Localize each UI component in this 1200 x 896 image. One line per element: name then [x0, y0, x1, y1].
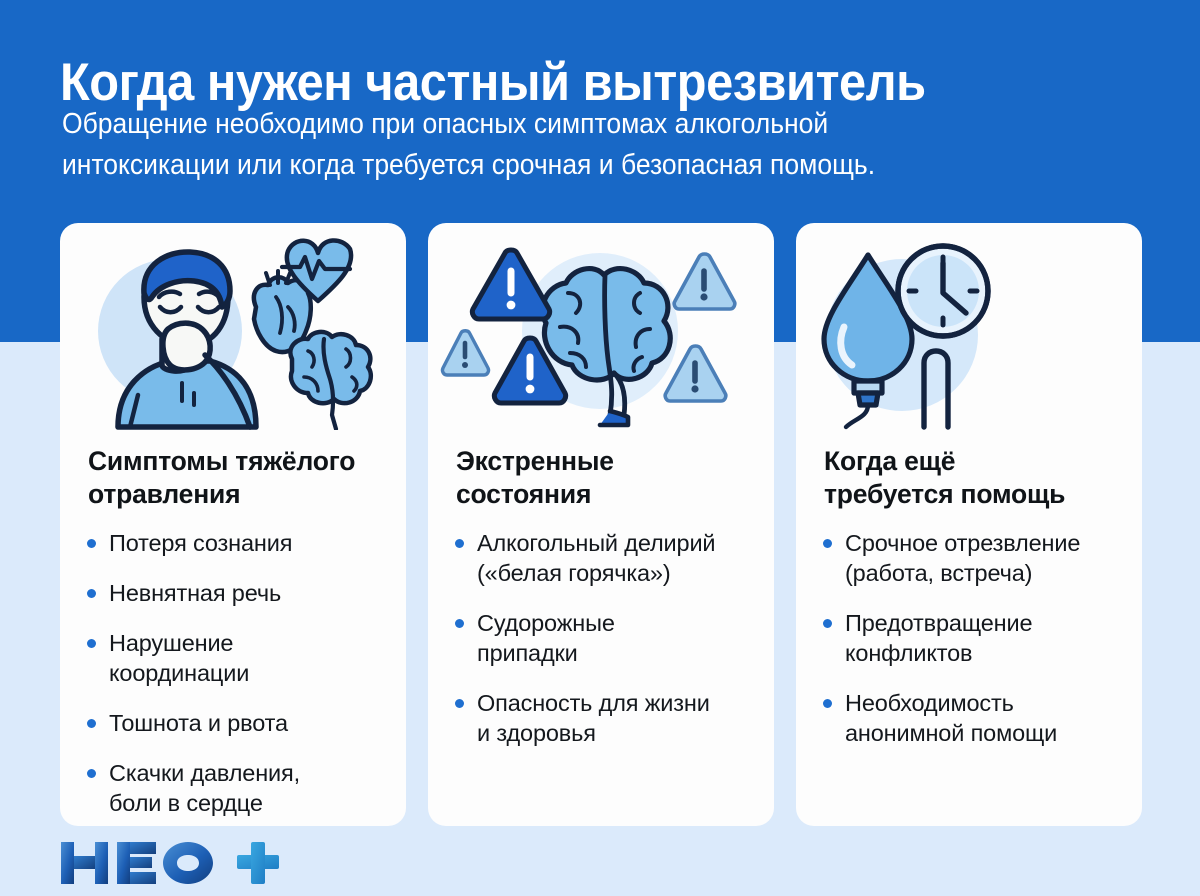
bullet-line: Невнятная речь — [109, 578, 402, 608]
logo-letter-e — [117, 842, 156, 884]
card-title-line-1: Когда ещё — [824, 445, 1124, 478]
bullet-line: Скачки давления, — [109, 758, 402, 788]
bullet-line: и здоровья — [477, 718, 770, 748]
list-item: Опасность для жизни и здоровья — [450, 688, 770, 748]
list-item: Алкогольный делирий («белая горячка») — [450, 528, 770, 588]
sick-man-heart-brain-illustration — [60, 235, 406, 430]
bullet-line: Алкогольный делирий — [477, 528, 770, 558]
page-subtitle: Обращение необходимо при опасных симптом… — [62, 104, 1113, 186]
card-title: Экстренные состояния — [456, 445, 756, 511]
card-title: Когда ещё требуется помощь — [824, 445, 1124, 511]
infographic-page: Когда нужен частный вытрезвитель Обращен… — [0, 0, 1200, 896]
card-bullet-list: Срочное отрезвление (работа, встреча) Пр… — [818, 528, 1138, 768]
bullet-line: координации — [109, 658, 402, 688]
list-item: Необходимость анонимной помощи — [818, 688, 1138, 748]
warning-triangle-icon — [442, 331, 488, 375]
bullet-line: (работа, встреча) — [845, 558, 1138, 588]
bullet-line: Судорожные — [477, 608, 770, 638]
list-item: Срочное отрезвление (работа, встреча) — [818, 528, 1138, 588]
bullet-line: боли в сердце — [109, 788, 402, 818]
subtitle-line-2: интоксикации или когда требуется срочная… — [62, 145, 1113, 186]
card-title: Симптомы тяжёлого отравления — [88, 445, 388, 511]
list-item: Скачки давления, боли в сердце — [82, 758, 402, 818]
bullet-line: Срочное отрезвление — [845, 528, 1138, 558]
bullet-line: Тошнота и рвота — [109, 708, 402, 738]
list-item: Потеря сознания — [82, 528, 402, 558]
card-title-line-2: состояния — [456, 478, 756, 511]
logo-letter-n — [61, 842, 108, 884]
clock-icon — [898, 246, 988, 336]
list-item: Предотвращение конфликтов — [818, 608, 1138, 668]
card-title-line-1: Симптомы тяжёлого — [88, 445, 388, 478]
bullet-line: Необходимость — [845, 688, 1138, 718]
subtitle-line-1: Обращение необходимо при опасных симптом… — [62, 104, 1113, 145]
card-title-line-2: отравления — [88, 478, 388, 511]
card-when-else-help-needed: Когда ещё требуется помощь Срочное отрез… — [796, 223, 1142, 826]
card-bullet-list: Потеря сознания Невнятная речь Нарушение… — [82, 528, 402, 826]
bullet-line: Предотвращение — [845, 608, 1138, 638]
card-row: Симптомы тяжёлого отравления Потеря созн… — [60, 223, 1142, 826]
logo-letter-o — [163, 842, 213, 884]
list-item: Тошнота и рвота — [82, 708, 402, 738]
bullet-line: Потеря сознания — [109, 528, 402, 558]
brain-icon — [290, 332, 370, 429]
bullet-line: Опасность для жизни — [477, 688, 770, 718]
card-severe-poisoning: Симптомы тяжёлого отравления Потеря созн… — [60, 223, 406, 826]
card-title-line-2: требуется помощь — [824, 478, 1124, 511]
bullet-line: Нарушение — [109, 628, 402, 658]
warning-triangle-icon — [674, 254, 735, 309]
card-emergency-states: Экстренные состояния Алкогольный делирий… — [428, 223, 774, 826]
brand-logo — [57, 838, 287, 888]
list-item: Невнятная речь — [82, 578, 402, 608]
bullet-line: конфликтов — [845, 638, 1138, 668]
logo-plus-icon — [237, 842, 279, 884]
card-bullet-list: Алкогольный делирий («белая горячка») Су… — [450, 528, 770, 768]
bullet-line: анонимной помощи — [845, 718, 1138, 748]
brain-warning-triangles-illustration — [428, 235, 774, 430]
card-title-line-1: Экстренные — [456, 445, 756, 478]
iv-drip-clock-illustration — [796, 235, 1142, 430]
bullet-line: («белая горячка») — [477, 558, 770, 588]
bullet-line: припадки — [477, 638, 770, 668]
list-item: Судорожные припадки — [450, 608, 770, 668]
list-item: Нарушение координации — [82, 628, 402, 688]
